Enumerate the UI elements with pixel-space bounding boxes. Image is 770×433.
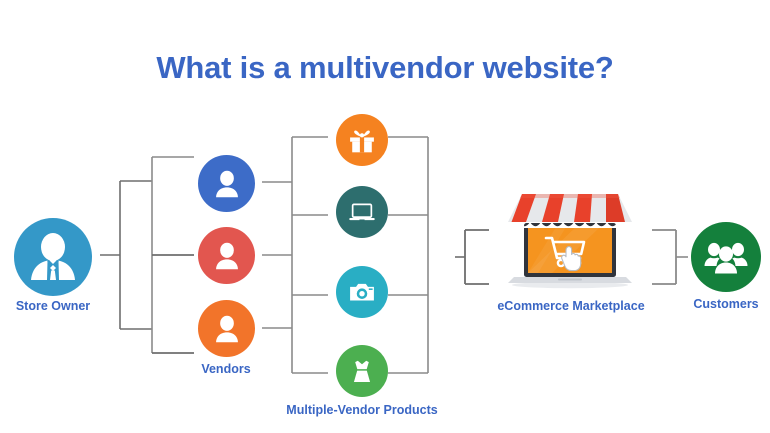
store-owner-label: Store Owner <box>0 299 106 313</box>
page-title: What is a multivendor website? <box>0 50 770 86</box>
product-circle-gift[interactable] <box>336 114 388 166</box>
vendor-circle-1[interactable] <box>198 155 255 212</box>
person-icon <box>208 165 246 203</box>
dress-icon <box>345 354 379 388</box>
gift-box-icon <box>345 123 379 157</box>
vendor-circle-2[interactable] <box>198 227 255 284</box>
person-icon <box>208 310 246 348</box>
awning <box>504 194 640 232</box>
laptop-storefront-icon <box>496 192 644 292</box>
laptop-icon <box>345 195 379 229</box>
person-with-tie-icon <box>23 227 83 287</box>
vendor-circle-3[interactable] <box>198 300 255 357</box>
product-circle-dress[interactable] <box>336 345 388 397</box>
marketplace-label: eCommerce Marketplace <box>478 299 664 313</box>
customers-circle <box>691 222 761 292</box>
product-circle-laptop[interactable] <box>336 186 388 238</box>
diagram-canvas: What is a multivendor website? <box>0 0 770 433</box>
store-owner-circle <box>14 218 92 296</box>
camera-icon <box>345 275 379 309</box>
product-circle-camera[interactable] <box>336 266 388 318</box>
person-icon <box>208 237 246 275</box>
products-label: Multiple-Vendor Products <box>272 403 452 417</box>
vendors-label: Vendors <box>176 362 276 376</box>
customers-label: Customers <box>683 297 769 311</box>
people-group-icon <box>701 232 751 282</box>
